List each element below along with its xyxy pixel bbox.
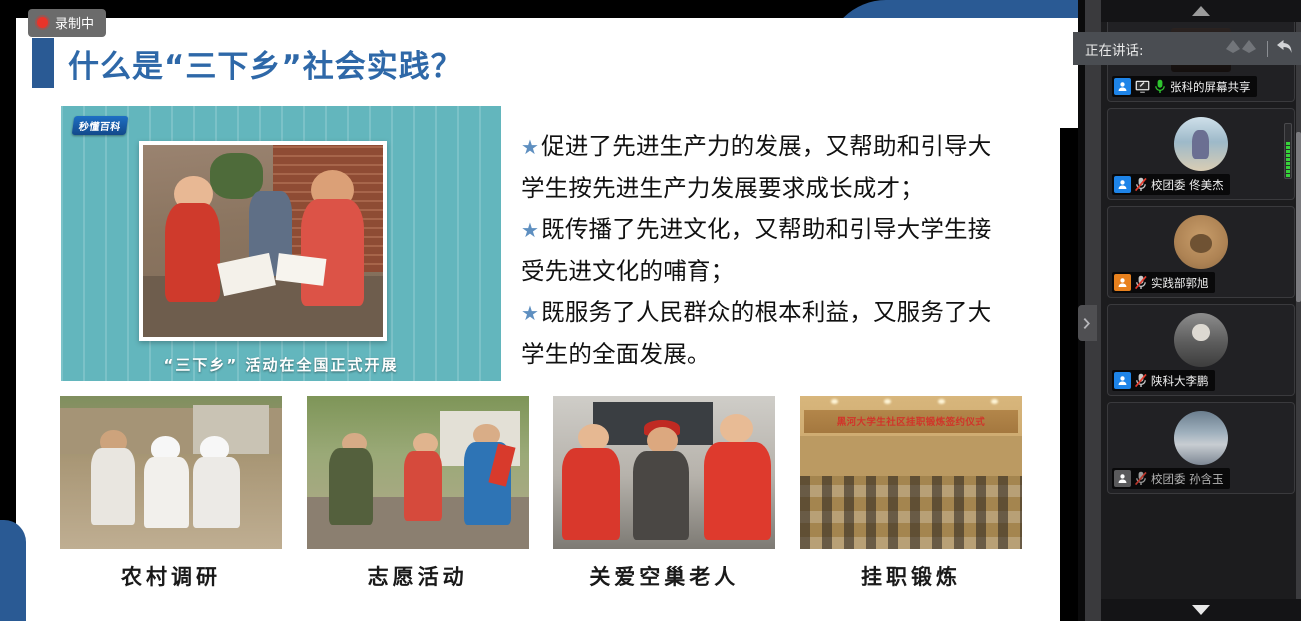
slide-title-row: 什么是“三下乡”社会实践？ [32,38,463,88]
watermark-logo: 秒懂百科 [72,116,129,135]
recording-badge: 录制中 [28,9,106,37]
thumbnail-caption: 关爱空巢老人 [553,561,775,591]
bullet-text: 学生按先进生产力发展要求成长成才； [521,174,924,202]
speaking-label: 正在讲话: [1085,39,1144,59]
page-title: 什么是“三下乡”社会实践？ [68,41,463,86]
hero-image: 秒懂百科 “三下乡” 活动在全国正式开展 [61,106,501,381]
presentation-slide: 什么是“三下乡”社会实践？ 秒懂百科 “三下 [16,18,1060,621]
avatar [1174,411,1228,465]
triangle-down-icon [1192,605,1210,615]
thumbnail-item: 农村调研 [60,396,282,591]
user-badge-icon [1114,274,1131,291]
microphone-muted-icon [1135,373,1147,388]
scroll-up-button[interactable] [1101,0,1301,22]
panel-collapse-button[interactable] [1078,305,1097,341]
microphone-muted-icon [1135,471,1147,486]
thumbnail-caption: 挂职锻炼 [800,561,1022,591]
bullet-text: 既传播了先进文化，又帮助和引导大学生接 [541,215,991,243]
avatar [1174,215,1228,269]
shared-screen-stage[interactable]: 什么是“三下乡”社会实践？ 秒懂百科 “三下 [0,0,1078,621]
hero-caption: “三下乡” 活动在全国正式开展 [61,354,501,375]
participant-name: 实践部郭旭 [1151,275,1209,291]
thumbnail-photo-volunteer [307,396,529,549]
bullet-text: 学生的全面发展。 [521,340,711,368]
triangle-up-icon [1192,6,1210,16]
participant-name: 校团委 孙含玉 [1151,471,1224,487]
participant-footer: 校团委 佟美杰 [1112,174,1230,195]
participants-panel: 超宅家不及附赠留声黑盒 张科的屏幕共享 [1101,0,1301,621]
title-accent-bar [32,38,54,88]
screen-share-icon [1135,80,1150,93]
star-icon: ★ [521,301,539,325]
avatar [1174,313,1228,367]
star-icon: ★ [521,218,539,242]
participant-tile[interactable]: 陕科大李鹏 [1107,304,1295,396]
panel-scrollbar-track[interactable] [1296,22,1301,599]
hero-photo-frame [139,141,387,341]
bullet-line: ★促进了先进生产力的发展，又帮助和引导大 [521,126,1021,168]
thumbnail-item: 志愿活动 [307,396,529,591]
bullet-text: 既服务了人民群众的根本利益，又服务了大 [541,298,991,326]
participant-tile[interactable]: 实践部郭旭 [1107,206,1295,298]
microphone-icon [1154,79,1166,94]
speaking-status-bar: 正在讲话: [1073,32,1301,65]
volume-meter [1284,123,1292,179]
chevron-right-icon [1083,317,1092,330]
divider [1267,41,1268,57]
slide-decoration-left [0,520,26,621]
thumbnail-caption: 志愿活动 [307,561,529,591]
participant-name: 张科的屏幕共享 [1170,79,1251,95]
participant-tile[interactable]: 校团委 孙含玉 [1107,402,1295,494]
speaking-bar-icons [1225,38,1301,59]
bullet-line: 学生按先进生产力发展要求成长成才； [521,168,1021,209]
star-icon: ★ [521,135,539,159]
participant-footer: 张科的屏幕共享 [1112,76,1257,97]
bullet-line: ★既传播了先进文化，又帮助和引导大学生接 [521,209,1021,251]
participant-footer: 陕科大李鹏 [1112,370,1215,391]
record-dot-icon [37,17,48,28]
avatar [1174,117,1228,171]
participant-footer: 校团委 孙含玉 [1112,468,1230,489]
hero-photo [143,145,383,337]
user-badge-icon [1114,372,1131,389]
panel-scrollbar-thumb[interactable] [1296,132,1301,302]
bullet-line: ★既服务了人民群众的根本利益，又服务了大 [521,292,1021,334]
thumbnail-row: 农村调研 志愿活动 [60,396,1022,591]
back-arrow-icon[interactable] [1276,39,1293,59]
thumbnail-banner: 黑河大学生社区挂职锻炼签约仪式 [804,410,1017,433]
user-badge-icon [1114,176,1131,193]
thumbnail-photo-internship: 黑河大学生社区挂职锻炼签约仪式 [800,396,1022,549]
scroll-down-button[interactable] [1101,599,1301,621]
double-chevron-icon[interactable] [1225,38,1259,59]
participant-footer: 实践部郭旭 [1112,272,1215,293]
user-badge-icon [1114,470,1131,487]
recording-label: 录制中 [55,13,94,32]
microphone-muted-icon [1135,275,1147,290]
thumbnail-item: 关爱空巢老人 [553,396,775,591]
thumbnail-banner-text: 黑河大学生社区挂职锻炼签约仪式 [837,414,986,428]
thumbnail-caption: 农村调研 [60,561,282,591]
meeting-window: 什么是“三下乡”社会实践？ 秒懂百科 “三下 [0,0,1301,621]
participant-tile[interactable]: 校团委 佟美杰 [1107,108,1295,200]
thumbnail-photo-rural-survey [60,396,282,549]
participant-tiles: 超宅家不及附赠留声黑盒 张科的屏幕共享 [1101,22,1301,599]
user-badge-icon [1114,78,1131,95]
bullet-line: 受先进文化的哺育； [521,251,1021,292]
bullet-text: 促进了先进生产力的发展，又帮助和引导大 [541,132,991,160]
bullet-list: ★促进了先进生产力的发展，又帮助和引导大 学生按先进生产力发展要求成长成才； ★… [521,126,1021,375]
bullet-text: 受先进文化的哺育； [521,257,734,285]
participant-name: 校团委 佟美杰 [1151,177,1224,193]
participant-name: 陕科大李鹏 [1151,373,1209,389]
microphone-muted-icon [1135,177,1147,192]
bullet-line: 学生的全面发展。 [521,334,1021,375]
thumbnail-item: 黑河大学生社区挂职锻炼签约仪式 挂职锻炼 [800,396,1022,591]
thumbnail-photo-elderly-care [553,396,775,549]
